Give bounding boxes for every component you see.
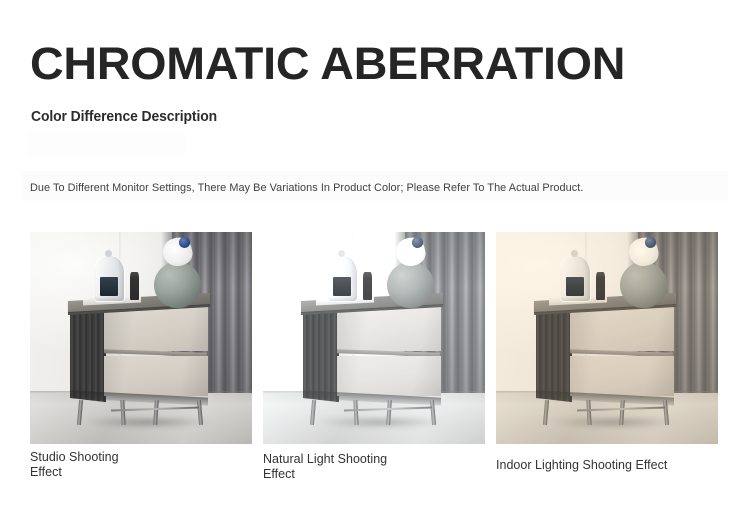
cabinet-fluted-side	[536, 308, 572, 402]
caption-line-1: Studio Shooting	[30, 450, 119, 464]
cloche-inner-label	[333, 277, 351, 296]
caption-line-2: Effect	[30, 465, 240, 480]
product-image-gallery	[30, 232, 724, 444]
photo-caption-studio: Studio Shooting Effect	[30, 450, 240, 480]
caption-line-2: Effect	[263, 467, 478, 482]
cabinet-fluted-side	[303, 308, 339, 402]
page-title: CHROMATIC ABERRATION	[30, 38, 625, 90]
photo-caption-indoor-lighting: Indoor Lighting Shooting Effect	[496, 458, 721, 473]
caption-line-1: Natural Light Shooting	[263, 452, 387, 466]
cloche-inner-label	[100, 277, 118, 296]
section-subtitle: Color Difference Description	[31, 108, 217, 127]
cabinet-fluted-side	[70, 308, 106, 402]
decor-bottle	[596, 272, 605, 300]
photo-caption-natural-light: Natural Light Shooting Effect	[263, 452, 478, 482]
caption-line-1: Indoor Lighting Shooting Effect	[496, 458, 667, 472]
product-photo-natural-light[interactable]	[263, 232, 485, 444]
decor-bottle	[130, 272, 139, 300]
scene-studio	[30, 232, 252, 444]
product-photo-studio[interactable]	[30, 232, 252, 444]
scene-indoor-lighting	[496, 232, 718, 444]
cabinet-front-shading	[337, 306, 440, 396]
scene-natural-light	[263, 232, 485, 444]
cabinet-front-shading	[104, 306, 207, 396]
decor-sphere	[154, 262, 201, 309]
subtitle-underbar	[26, 131, 186, 157]
nightstand	[303, 304, 441, 402]
color-disclaimer-text: Due To Different Monitor Settings, There…	[30, 181, 583, 195]
decor-sphere	[387, 262, 434, 309]
decor-sphere	[620, 262, 667, 309]
decor-bottle	[363, 272, 372, 300]
nightstand	[70, 304, 208, 402]
product-photo-indoor-lighting[interactable]	[496, 232, 718, 444]
nightstand	[536, 304, 674, 402]
cabinet-front-shading	[570, 306, 673, 396]
cloche-inner-label	[566, 277, 584, 296]
